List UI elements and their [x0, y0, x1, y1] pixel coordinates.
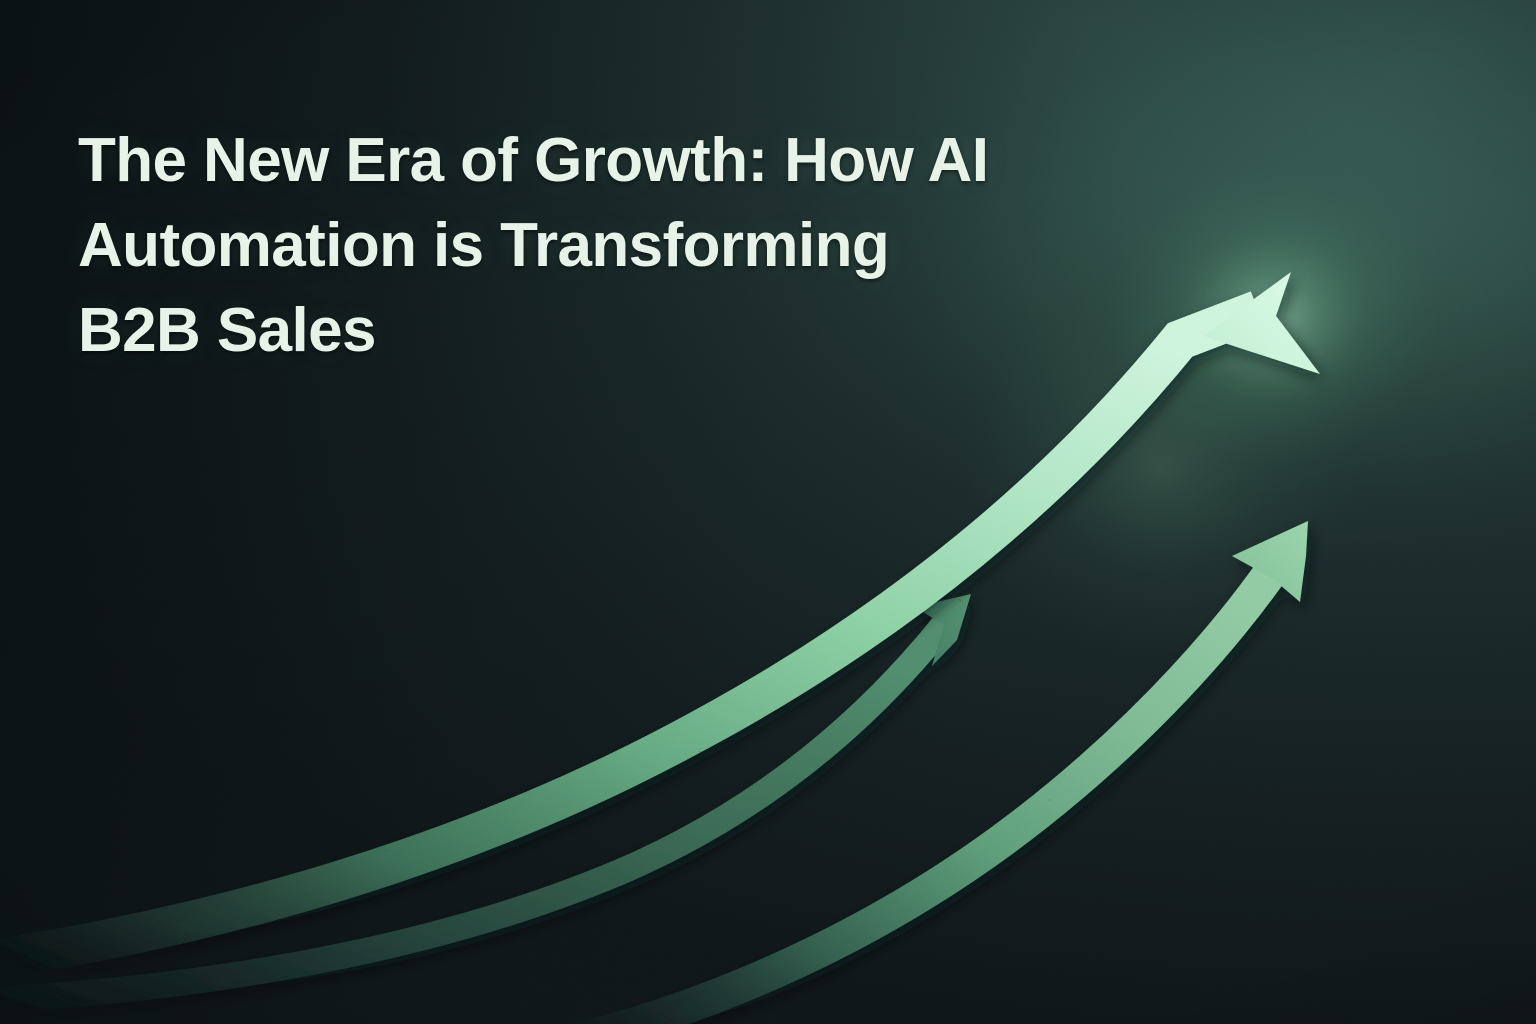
headline-line-1: The New Era of Growth: How AI: [78, 118, 1208, 203]
headline-line-2: Automation is Transforming: [78, 203, 1208, 288]
hero-banner: The New Era of Growth: How AI Automation…: [0, 0, 1536, 1024]
headline-line-3: B2B Sales: [78, 288, 1208, 373]
page-title: The New Era of Growth: How AI Automation…: [78, 118, 1208, 373]
